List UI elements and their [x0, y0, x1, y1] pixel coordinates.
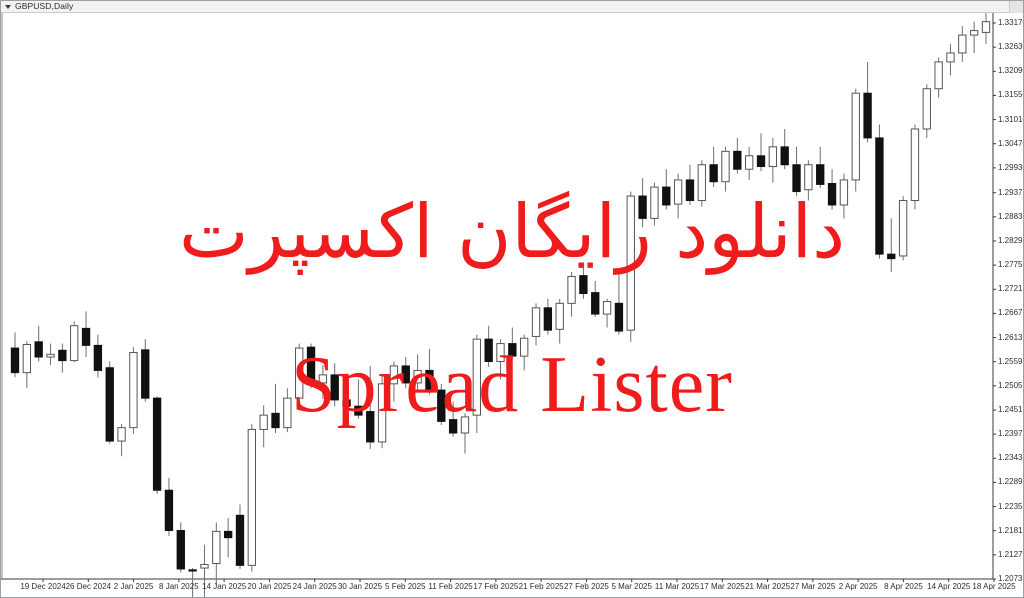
- price-tick-label: 1.25595: [998, 358, 1023, 366]
- candle-bullish: [532, 308, 539, 337]
- candle-bearish: [153, 398, 160, 490]
- date-tick-label: 26 Dec 2024: [66, 582, 111, 591]
- candle-bullish: [651, 187, 658, 218]
- titlebar-scrollbar[interactable]: [1009, 1, 1023, 13]
- candle-bearish: [355, 406, 362, 415]
- date-tick-label: 19 Dec 2024: [20, 582, 65, 591]
- candle-bearish: [888, 254, 895, 258]
- candle-bearish: [343, 400, 350, 406]
- candle-bullish: [745, 156, 752, 169]
- candle-bearish: [189, 570, 196, 571]
- price-tick-label: 1.29375: [998, 189, 1023, 197]
- symbol-period-label: GBPUSD,Daily: [15, 2, 73, 11]
- date-tick-label: 8 Jan 2025: [159, 582, 199, 591]
- candle-bullish: [260, 415, 267, 429]
- chart-plot-area[interactable]: 1.331701.326301.320901.315501.310101.304…: [1, 13, 1023, 597]
- candle-bearish: [828, 184, 835, 205]
- candle-bearish: [142, 350, 149, 398]
- date-tick-label: 30 Jan 2025: [338, 582, 382, 591]
- price-tick-label: 1.33170: [998, 19, 1023, 27]
- candle-bullish: [284, 398, 291, 428]
- candle-bullish: [390, 366, 397, 384]
- price-tick-label: 1.26675: [998, 309, 1023, 317]
- candle-bullish: [556, 303, 563, 329]
- candle-bullish: [47, 354, 54, 357]
- date-tick-label: 27 Mar 2025: [790, 582, 835, 591]
- candle-bearish: [438, 390, 445, 421]
- candle-bullish: [71, 326, 78, 361]
- price-tick-label: 1.31010: [998, 116, 1023, 124]
- date-tick-label: 11 Mar 2025: [655, 582, 699, 591]
- candle-bearish: [236, 515, 243, 565]
- candle-bullish: [840, 180, 847, 205]
- candle-bearish: [710, 165, 717, 182]
- candle-bearish: [367, 412, 374, 442]
- date-tick-label: 18 Apr 2025: [972, 582, 1015, 591]
- candle-bearish: [307, 347, 314, 383]
- price-tick-label: 1.31550: [998, 91, 1023, 99]
- price-tick-label: 1.27755: [998, 261, 1023, 269]
- candle-bearish: [615, 303, 622, 331]
- candle-bullish: [970, 31, 977, 35]
- date-tick-label: 20 Jan 2025: [247, 582, 291, 591]
- candle-bearish: [35, 342, 42, 357]
- candle-bullish: [899, 201, 906, 256]
- price-tick-label: 1.28835: [998, 213, 1023, 221]
- price-tick-label: 1.21275: [998, 551, 1023, 559]
- candle-bullish: [521, 338, 528, 356]
- candle-bearish: [59, 350, 66, 360]
- candle-bearish: [402, 366, 409, 383]
- date-tick-label: 24 Jan 2025: [293, 582, 337, 591]
- candle-bearish: [165, 490, 172, 530]
- candle-bearish: [734, 151, 741, 169]
- candle-bullish: [319, 375, 326, 383]
- price-tick-label: 1.22895: [998, 478, 1023, 486]
- candle-bearish: [817, 165, 824, 185]
- candle-bearish: [426, 370, 433, 390]
- date-tick-label: 14 Apr 2025: [927, 582, 970, 591]
- date-tick-label: 17 Feb 2025: [473, 582, 518, 591]
- price-tick-label: 1.30470: [998, 140, 1023, 148]
- price-tick-label: 1.24515: [998, 406, 1023, 414]
- candlestick-plot: [1, 13, 1023, 597]
- candle-bullish: [769, 147, 776, 167]
- date-tick-label: 5 Feb 2025: [385, 582, 425, 591]
- candle-bearish: [864, 93, 871, 138]
- candle-bullish: [674, 180, 681, 204]
- date-tick-label: 14 Jan 2025: [202, 582, 246, 591]
- candle-bearish: [781, 147, 788, 165]
- candle-bearish: [272, 413, 279, 427]
- price-tick-label: 1.29930: [998, 164, 1023, 172]
- candle-bearish: [544, 308, 551, 330]
- price-tick-label: 1.25055: [998, 382, 1023, 390]
- price-tick-label: 1.23435: [998, 454, 1023, 462]
- date-tick-label: 8 Apr 2025: [884, 582, 923, 591]
- candle-bullish: [722, 151, 729, 181]
- candle-bullish: [497, 344, 504, 362]
- price-tick-label: 1.32090: [998, 67, 1023, 75]
- candle-bearish: [639, 196, 646, 218]
- candle-bullish: [473, 339, 480, 415]
- date-tick-label: 2 Apr 2025: [839, 582, 878, 591]
- candle-bullish: [414, 370, 421, 383]
- date-tick-label: 17 Mar 2025: [700, 582, 745, 591]
- candle-bullish: [23, 344, 30, 372]
- price-tick-label: 1.27215: [998, 285, 1023, 293]
- price-tick-label: 1.21815: [998, 527, 1023, 535]
- date-tick-label: 5 Mar 2025: [611, 582, 651, 591]
- candle-bullish: [982, 22, 989, 33]
- price-tick-label: 1.22355: [998, 503, 1023, 511]
- candle-bullish: [947, 53, 954, 62]
- candle-bearish: [509, 344, 516, 357]
- candle-bullish: [118, 428, 125, 441]
- candle-bullish: [935, 62, 942, 89]
- candle-bearish: [449, 420, 456, 433]
- date-tick-label: 21 Feb 2025: [519, 582, 564, 591]
- candle-bullish: [201, 564, 208, 568]
- candle-bullish: [248, 429, 255, 565]
- candle-bearish: [686, 180, 693, 201]
- date-tick-label: 27 Feb 2025: [564, 582, 609, 591]
- candle-bearish: [663, 187, 670, 205]
- candle-bullish: [911, 129, 918, 201]
- candle-bullish: [852, 93, 859, 180]
- candle-bearish: [485, 339, 492, 361]
- candle-bearish: [876, 138, 883, 254]
- candle-bullish: [378, 384, 385, 442]
- mt4-chart-window: GBPUSD,Daily 1.331701.326301.320901.3155…: [0, 0, 1024, 598]
- candle-bearish: [106, 368, 113, 441]
- date-axis[interactable]: 19 Dec 202426 Dec 20242 Jan 20258 Jan 20…: [1, 579, 1023, 597]
- candle-bearish: [224, 531, 231, 537]
- candle-bullish: [959, 35, 966, 53]
- price-axis[interactable]: 1.331701.326301.320901.315501.310101.304…: [994, 13, 1023, 597]
- candle-bullish: [568, 277, 575, 304]
- date-tick-label: 11 Feb 2025: [428, 582, 472, 591]
- candle-bearish: [580, 276, 587, 294]
- candle-bullish: [296, 348, 303, 398]
- candle-bearish: [793, 165, 800, 192]
- candle-bullish: [923, 89, 930, 129]
- candle-bearish: [592, 293, 599, 314]
- candle-bearish: [82, 328, 89, 345]
- price-tick-label: 1.23975: [998, 430, 1023, 438]
- date-tick-label: 21 Mar 2025: [745, 582, 790, 591]
- price-tick-label: 1.32630: [998, 43, 1023, 51]
- candle-bearish: [94, 345, 101, 370]
- candle-bearish: [331, 375, 338, 400]
- price-tick-label: 1.26135: [998, 334, 1023, 342]
- candle-bullish: [461, 417, 468, 433]
- chart-title-bar[interactable]: GBPUSD,Daily: [1, 1, 1023, 13]
- candle-bullish: [627, 196, 634, 330]
- candle-bearish: [11, 348, 18, 373]
- candle-bullish: [805, 165, 812, 190]
- candle-bullish: [698, 165, 705, 201]
- triangle-down-icon[interactable]: [5, 5, 11, 9]
- candle-bullish: [130, 353, 137, 428]
- candle-bearish: [757, 156, 764, 167]
- price-tick-label: 1.28295: [998, 237, 1023, 245]
- candle-bearish: [177, 530, 184, 568]
- candle-bullish: [213, 531, 220, 563]
- date-tick-label: 2 Jan 2025: [114, 582, 154, 591]
- candle-bullish: [603, 302, 610, 315]
